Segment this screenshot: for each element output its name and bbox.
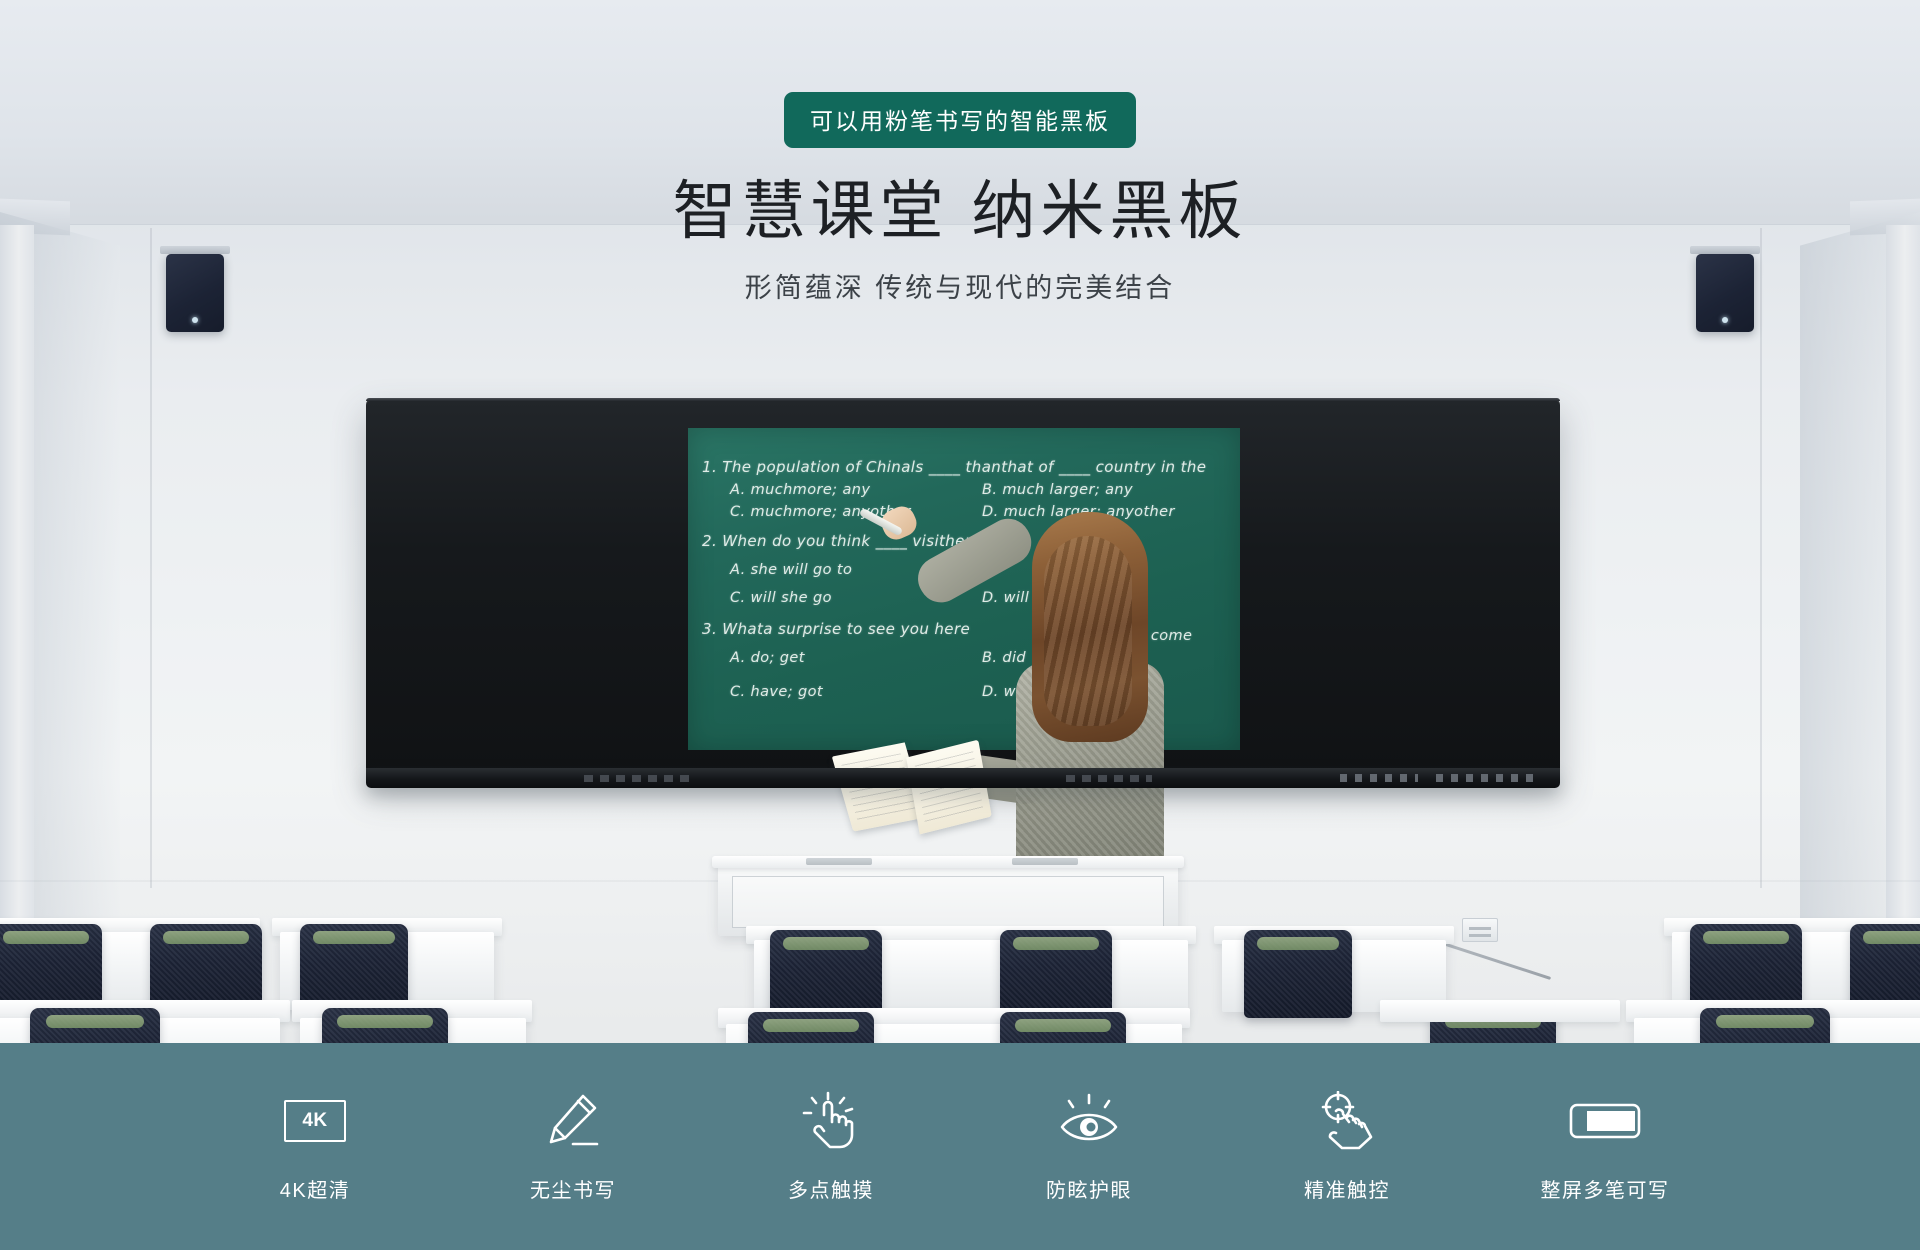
- wall-speaker-right: [1696, 254, 1754, 332]
- chalk-line: 3. Whata surprise to see you here: [702, 620, 970, 638]
- blackboard-bottom-bezel: [366, 768, 1560, 788]
- feature-label: 多点触摸: [788, 1174, 874, 1203]
- chalk-line: A. do; get: [730, 650, 805, 666]
- feature-item-dustless-writing[interactable]: 无尘书写: [488, 1090, 658, 1203]
- teacher-podium: [718, 862, 1178, 936]
- feature-label: 精准触控: [1304, 1174, 1390, 1203]
- pencil-icon: [545, 1090, 601, 1152]
- feature-item-full-screen-multi-pen[interactable]: 整屏多笔可写: [1520, 1090, 1690, 1203]
- chalk-line: 1. The population of Chinals ____ thanth…: [702, 458, 1206, 476]
- feature-list: 4K 4K超清 无尘书写: [230, 1090, 1690, 1203]
- bezel-port-row[interactable]: [1066, 775, 1152, 782]
- feature-bar: 4K 4K超清 无尘书写: [0, 1043, 1920, 1250]
- feature-item-multi-touch[interactable]: 多点触摸: [746, 1090, 916, 1203]
- teacher-figure: [1010, 512, 1164, 872]
- product-hero-page: 1. The population of Chinals ____ thanth…: [0, 0, 1920, 1250]
- hero-badge: 可以用粉笔书写的智能黑板: [784, 92, 1136, 148]
- four-k-icon-label: 4K: [284, 1100, 346, 1142]
- whiteboard-icon: [1569, 1090, 1641, 1152]
- chair: [1244, 930, 1352, 1018]
- chair: [770, 930, 882, 1018]
- wall-socket-right: [1462, 918, 1498, 942]
- touch-hand-icon: [802, 1090, 860, 1152]
- chair: [1000, 930, 1112, 1018]
- bezel-button-row[interactable]: [1340, 774, 1418, 782]
- bezel-port-row[interactable]: [584, 775, 694, 782]
- feature-label: 无尘书写: [530, 1174, 616, 1203]
- podium-slot: [806, 858, 872, 865]
- speaker-mount-right: [1690, 246, 1760, 254]
- page-title: 智慧课堂 纳米黑板: [673, 160, 1248, 252]
- feature-label: 防眩护眼: [1046, 1174, 1132, 1203]
- speaker-mount-left: [160, 246, 230, 254]
- chalk-line: C. have; got: [730, 684, 823, 700]
- wall-seam-left: [150, 228, 152, 888]
- feature-item-precision-touch[interactable]: 精准触控: [1262, 1090, 1432, 1203]
- feature-item-eye-protection[interactable]: 防眩护眼: [1004, 1090, 1174, 1203]
- desk: [1380, 1000, 1620, 1022]
- podium-slot: [1012, 858, 1078, 865]
- podium-desktop: [712, 856, 1184, 868]
- precision-touch-icon: [1316, 1090, 1378, 1152]
- wall-speaker-left: [166, 254, 224, 332]
- bezel-indicator-row[interactable]: [1436, 774, 1534, 782]
- feature-item-4k[interactable]: 4K 4K超清: [230, 1090, 400, 1203]
- four-k-icon: 4K: [284, 1090, 346, 1152]
- chalk-line: 2. When do you think ____ visither: [702, 532, 971, 550]
- eye-icon: [1058, 1090, 1120, 1152]
- feature-label: 4K超清: [280, 1174, 350, 1203]
- chalk-line: C. will she go: [730, 590, 832, 606]
- chalk-line: B. much larger; any: [982, 482, 1133, 498]
- feature-label: 整屏多笔可写: [1541, 1174, 1670, 1203]
- chalk-line: A. she will go to: [730, 562, 852, 578]
- teacher-hair: [1032, 512, 1148, 742]
- page-subtitle: 形简蕴深 传统与现代的完美结合: [745, 266, 1176, 305]
- podium-front-panel: [732, 876, 1164, 928]
- chalk-line: A. muchmore; any: [730, 482, 870, 498]
- wall-seam-right: [1760, 228, 1762, 888]
